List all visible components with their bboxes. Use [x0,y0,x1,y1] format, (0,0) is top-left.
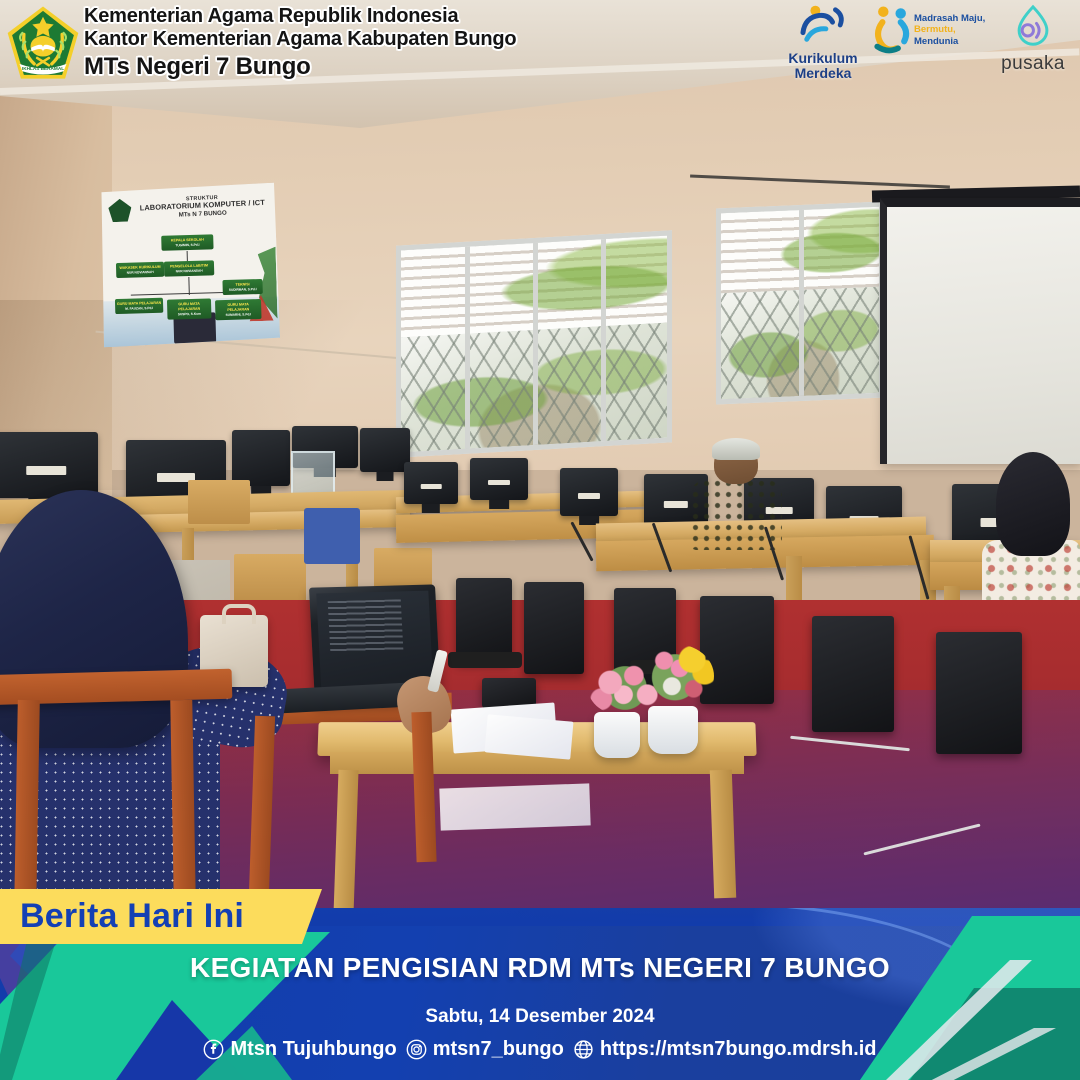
kurikulum-merdeka-line1: Kurikulum [780,51,866,66]
papers [485,714,574,759]
badge-label: Berita Hari Ini [20,897,244,936]
projector-screen [880,198,1080,464]
org-node: KEPALA SEKOLAH TUGIMIN, S.Pd.I [161,234,213,250]
power-strip [448,652,522,668]
social-instagram[interactable]: mtsn7_bungo [406,1038,564,1061]
chair-leg [14,700,40,910]
header-line-office: Kantor Kementerian Agama Kabupaten Bungo [84,28,516,51]
event-date: Sabtu, 14 Desember 2024 [0,1006,1080,1028]
pc-tower [456,578,512,662]
banner-logo-icon [108,199,132,223]
kemenag-logo: IKHLAS BERAMAL [6,5,80,83]
kurikulum-merdeka-icon [789,4,857,46]
monitor [232,430,290,486]
window-left [396,230,672,457]
org-node: PENGELOLA LAB/TIM NUR NOVIANSAH [164,260,214,276]
madrasah-maju-line3: Mendunia [914,36,985,48]
chair-blue [304,508,360,564]
header-line-ministry: Kementerian Agama Republik Indonesia [84,5,516,28]
website-label[interactable]: https://mtsn7bungo.mdrsh.id [600,1038,877,1061]
globe-icon[interactable] [573,1039,594,1060]
kurikulum-merdeka-logo: Kurikulum Merdeka [780,4,866,81]
org-node: GURU MATA PELAJARAN M. FAUZAN, S.Pd.I [115,298,163,314]
banner-title: STRUKTUR LABORATORIUM KOMPUTER / ICT MTs… [136,193,269,221]
flower-pot [648,706,698,754]
news-poster-card: STRUKTUR LABORATORIUM KOMPUTER / ICT MTs… [0,0,1080,1080]
papers [439,783,590,830]
chair [234,554,306,604]
chair [188,480,250,524]
pc-tower [812,616,894,732]
svg-text:IKHLAS BERAMAL: IKHLAS BERAMAL [22,66,64,71]
org-connector [131,292,237,296]
instagram-icon[interactable] [406,1039,427,1060]
social-website[interactable]: https://mtsn7bungo.mdrsh.id [573,1038,877,1061]
social-facebook[interactable]: Mtsn Tujuhbungo [203,1038,396,1061]
madrasah-maju-line1: Madrasah Maju, [914,13,985,25]
kurikulum-merdeka-line2: Merdeka [780,66,866,81]
front-table-leg [710,770,736,899]
berita-hari-ini-badge: Berita Hari Ini [0,889,322,944]
org-node: TEKNISI SUDIRMAN, S.Pd.I [222,279,262,295]
org-node: WAKASEK KURIKULUM NUR NOVIANSAH [116,262,164,278]
partner-logos: Kurikulum Merdeka Madrasah Maju, Bermutu… [780,4,1072,81]
pc-tower [524,582,584,674]
org-node: GURU MATA PELAJARAN SUSPO, S.Kom [167,298,212,319]
wall-org-chart-banner: STRUKTUR LABORATORIUM KOMPUTER / ICT MTs… [98,183,280,348]
pusaka-icon [1013,4,1053,48]
social-links: Mtsn Tujuhbungo mtsn7_bungo https://mtsn… [0,1038,1080,1061]
pusaka-logo: pusaka [994,4,1072,75]
chair-leg [170,700,195,900]
pc-tower [936,632,1022,754]
flower-pot [594,712,640,758]
monitor [404,462,458,504]
madrasah-maju-line2: Bermutu, [914,24,985,36]
instagram-label[interactable]: mtsn7_bungo [433,1038,564,1061]
hijab [996,452,1070,556]
pusaka-label: pusaka [994,53,1072,75]
org-node: GURU MATA PELAJARAN SUMARNI, S.Pd.I [215,299,262,320]
facebook-icon[interactable] [203,1039,224,1060]
event-title: KEGIATAN PENGISIAN RDM MTs NEGERI 7 BUNG… [0,952,1080,984]
aquarium [291,451,335,495]
monitor [560,468,618,516]
header-line-school: MTs Negeri 7 Bungo [84,53,516,81]
madrasah-maju-icon [872,4,912,56]
madrasah-maju-logo: Madrasah Maju, Bermutu, Mendunia [872,4,988,56]
monitor [470,458,528,500]
window-right [716,201,884,404]
white-cap [712,438,760,460]
monitor [360,428,410,472]
monitor [0,432,98,498]
header-text-block: Kementerian Agama Republik Indonesia Kan… [84,5,516,81]
facebook-label[interactable]: Mtsn Tujuhbungo [230,1038,396,1061]
poster-header: IKHLAS BERAMAL Kementerian Agama Republi… [0,0,1080,92]
